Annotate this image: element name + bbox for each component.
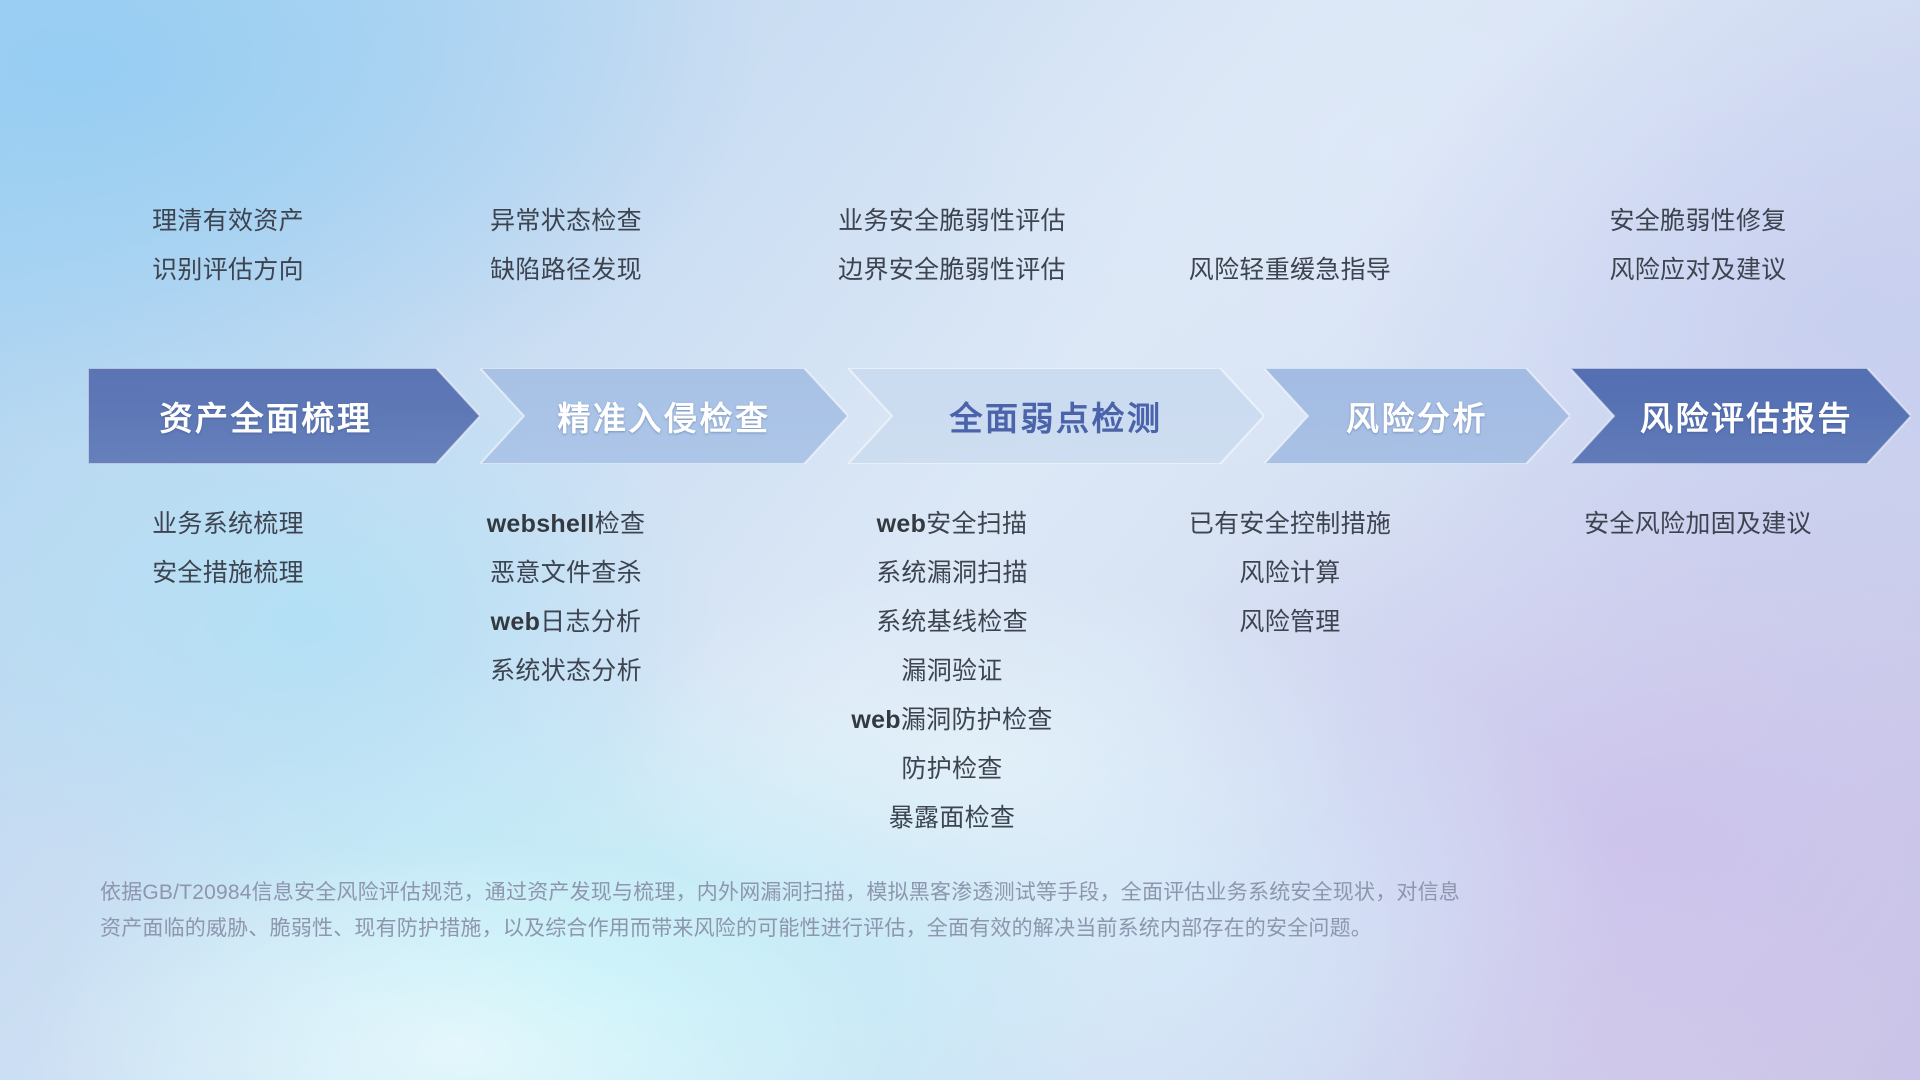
stage-caption-intrusion-check: 精准入侵检查 [558,392,771,440]
detail-item: 安全风险加固及建议 [1398,500,1920,549]
stage-chevron-asset-inventory[interactable]: 资产全面梳理 [88,368,480,464]
stage-caption-risk-analysis: 风险分析 [1346,392,1488,440]
top-column-assessment-report: 安全脆弱性修复风险应对及建议 [1398,197,1920,295]
stage-caption-asset-inventory: 资产全面梳理 [160,392,373,440]
stage-caption-weakness-detection: 全面弱点检测 [950,392,1163,440]
note-line-1: 依据GB/T20984信息安全风险评估规范，通过资产发现与梳理，内外网漏洞扫描，… [100,875,1610,911]
description-note: 依据GB/T20984信息安全风险评估规范，通过资产发现与梳理，内外网漏洞扫描，… [100,875,1610,947]
bottom-column-assessment-report: 安全风险加固及建议 [1398,500,1920,549]
stage-chevron-weakness-detection[interactable]: 全面弱点检测 [848,368,1264,464]
detail-item: 风险应对及建议 [1398,246,1920,295]
stage-chevron-assessment-report[interactable]: 风险评估报告 [1570,368,1911,464]
detail-item: 风险计算 [990,549,1590,598]
stage-chevron-risk-analysis[interactable]: 风险分析 [1264,368,1570,464]
stage-chevron-intrusion-check[interactable]: 精准入侵检查 [480,368,848,464]
process-diagram: 理清有效资产识别评估方向异常状态检查缺陷路径发现业务安全脆弱性评估边界安全脆弱性… [0,0,1920,1080]
detail-item: 暴露面检查 [652,794,1252,843]
detail-item: 风险管理 [990,598,1590,647]
detail-item-emphasis: web [877,510,927,538]
detail-item: 防护检查 [652,745,1252,794]
detail-item: 业务安全脆弱性评估 [652,197,1252,246]
detail-item: 漏洞验证 [652,647,1252,696]
detail-item: web漏洞防护检查 [652,696,1252,745]
note-line-2: 资产面临的威胁、脆弱性、现有防护措施，以及综合作用而带来风险的可能性进行评估，全… [100,911,1610,947]
detail-item-emphasis: web [851,706,901,734]
detail-item-emphasis: webshell [487,510,595,538]
stage-chevron-band: 资产全面梳理精准入侵检查全面弱点检测风险分析风险评估报告 [88,368,1911,464]
stage-caption-assessment-report: 风险评估报告 [1640,392,1853,440]
detail-item-emphasis: web [491,608,541,636]
detail-item: 安全脆弱性修复 [1398,197,1920,246]
